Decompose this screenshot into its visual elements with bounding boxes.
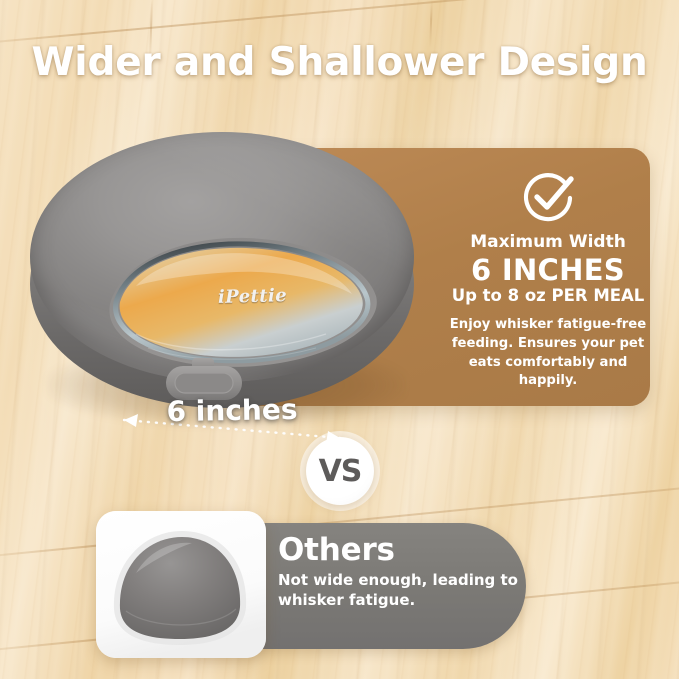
feeder-bowl-recess [96, 230, 386, 374]
lid-latch-icon [162, 358, 246, 404]
capacity-label: Up to 8 oz PER MEAL [448, 287, 648, 305]
max-width-label: Maximum Width [448, 233, 648, 252]
vs-label: VS [319, 454, 362, 489]
feature-description: Enjoy whisker fatigue-free feeding. Ensu… [448, 316, 648, 391]
competitor-bowl-graphic [96, 511, 266, 658]
others-subtitle: Not wide enough, leading to whisker fati… [278, 570, 518, 611]
page-title: Wider and Shallower Design [0, 40, 679, 85]
ipettie-feeder-product: iPettie 6 inches [22, 126, 422, 426]
check-circle-icon [520, 170, 576, 226]
bowl-graphic [96, 230, 386, 374]
others-text-block: Others Not wide enough, leading to whisk… [278, 534, 518, 611]
size-value: 6 INCHES [448, 255, 648, 285]
others-title: Others [278, 534, 518, 567]
competitor-bowl-card [96, 511, 266, 658]
feature-panel-content: Maximum Width 6 INCHES Up to 8 oz PER ME… [448, 170, 648, 391]
vs-badge: VS [306, 437, 374, 505]
product-marketing-image: Wider and Shallower Design [0, 0, 679, 679]
